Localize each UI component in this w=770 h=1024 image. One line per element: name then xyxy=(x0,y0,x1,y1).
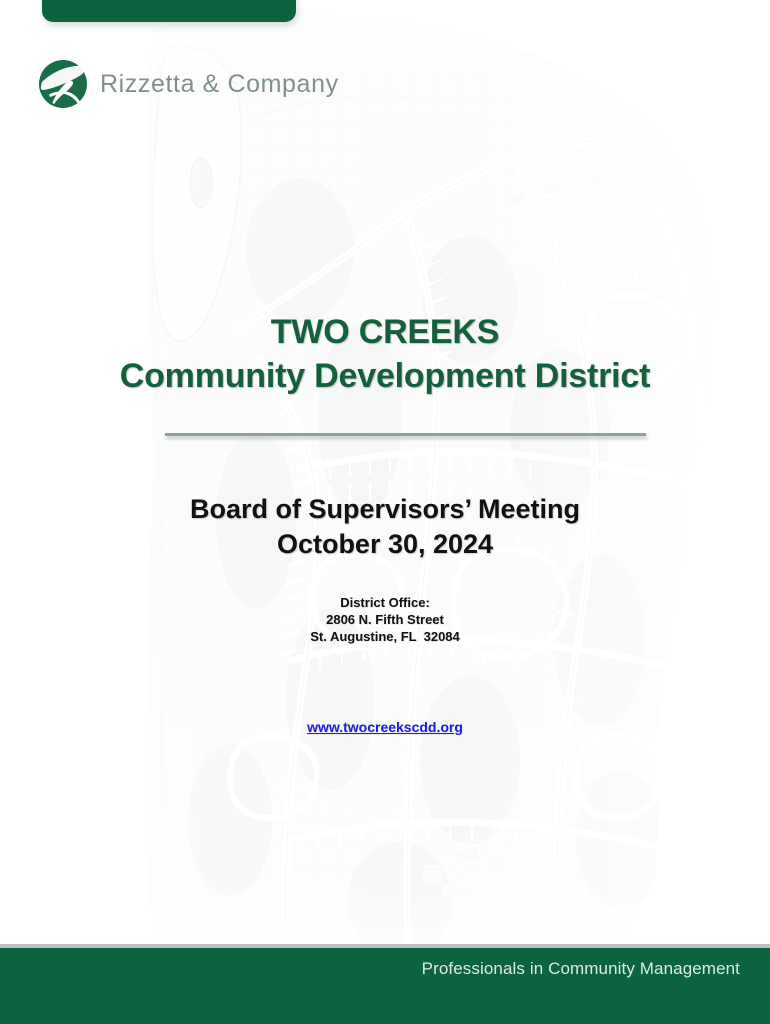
rizzetta-r-circle-logo xyxy=(38,59,88,109)
brand-logo: Rizzetta & Company xyxy=(38,59,339,109)
district-title: TWO CREEKS Community Development Distric… xyxy=(0,310,770,398)
address-city-state-zip: St. Augustine, FL 32084 xyxy=(0,628,770,645)
district-title-line1: TWO CREEKS xyxy=(0,310,770,354)
meeting-heading: Board of Supervisors’ Meeting October 30… xyxy=(0,492,770,562)
title-divider-rule xyxy=(165,433,646,436)
footer-tagline: Professionals in Community Management xyxy=(0,959,740,979)
district-title-line2: Community Development District xyxy=(0,354,770,398)
address-street: 2806 N. Fifth Street xyxy=(0,611,770,628)
watermark-vertical-fade xyxy=(0,0,770,960)
community-site-plan-watermark xyxy=(0,0,770,960)
website-block: www.twocreekscdd.org xyxy=(0,719,770,737)
district-office-address: District Office: 2806 N. Fifth Street St… xyxy=(0,594,770,645)
website-link[interactable]: www.twocreekscdd.org xyxy=(307,719,463,735)
top-green-tab xyxy=(42,0,296,22)
address-label: District Office: xyxy=(0,594,770,611)
meeting-date: October 30, 2024 xyxy=(0,527,770,562)
cover-page: Rizzetta & Company TWO CREEKS Community … xyxy=(0,0,770,1024)
watermark-horizontal-fade xyxy=(0,0,770,960)
meeting-title: Board of Supervisors’ Meeting xyxy=(0,492,770,527)
company-wordmark: Rizzetta & Company xyxy=(100,70,339,99)
